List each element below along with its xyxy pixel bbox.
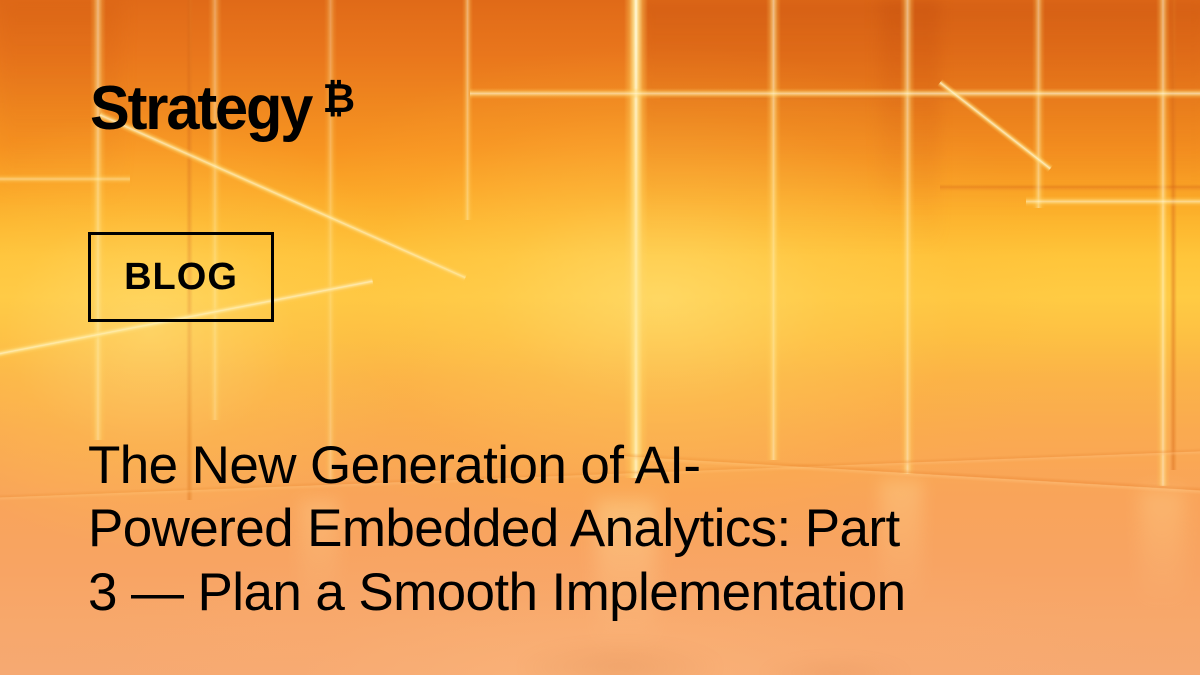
blog-badge-label: BLOG: [124, 258, 238, 296]
page-title-line-3: 3 — Plan a Smooth Implementation: [88, 561, 1148, 625]
logo-wordmark: Strategy: [90, 78, 311, 140]
page-title: The New Generation of AI- Powered Embedd…: [88, 434, 1148, 625]
hero-banner: Strategy ₿ BLOG The New Generation of AI…: [0, 0, 1200, 675]
page-title-line-2: Powered Embedded Analytics: Part: [88, 497, 1148, 561]
strategy-logo[interactable]: Strategy ₿: [90, 78, 355, 140]
page-title-line-1: The New Generation of AI-: [88, 434, 1148, 498]
blog-badge: BLOG: [88, 232, 274, 322]
bitcoin-icon: ₿: [323, 79, 356, 119]
hero-content: Strategy ₿ BLOG The New Generation of AI…: [0, 0, 1200, 675]
